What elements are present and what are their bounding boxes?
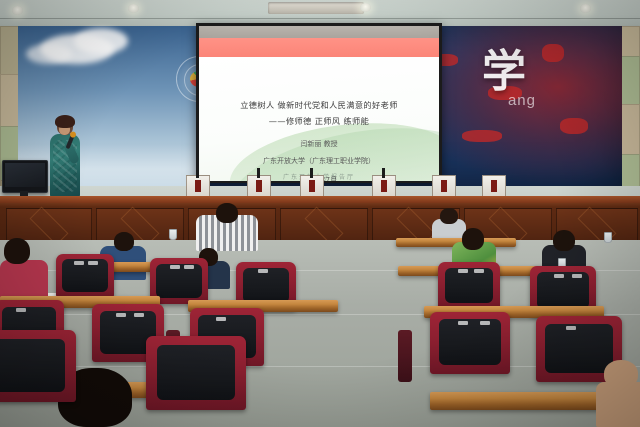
attendee-head [553, 230, 575, 251]
seat-cushion [243, 268, 290, 304]
attendee-head [114, 232, 134, 251]
desk-nameplate [186, 175, 210, 198]
desk-microphone [196, 168, 199, 178]
attendee-foreground-right [596, 360, 640, 427]
attendee-head [604, 360, 638, 388]
desk-nameplate [372, 175, 396, 198]
seat-number-tag [458, 321, 468, 325]
seat-number-tag [554, 274, 564, 278]
auditorium-seat[interactable] [56, 254, 114, 298]
desk-microphone [257, 168, 260, 178]
projection-screen[interactable]: 立德树人 做新时代党和人民满意的好老师 ——修师德 正师风 练师能 闫新丽 教授… [196, 23, 442, 183]
stage-monitor [2, 160, 48, 193]
desk-microphone [310, 168, 313, 178]
seat-number-tag [458, 269, 468, 273]
seat-number-tag [216, 317, 226, 321]
seat-cushion [62, 259, 107, 292]
seat-number-tag [116, 313, 126, 317]
downlight-2 [360, 3, 371, 12]
desk-nameplate [432, 175, 456, 198]
water-cup [604, 232, 612, 243]
slide-body: 立德树人 做新时代党和人民满意的好老师 ——修师德 正师风 练师能 闫新丽 教授… [199, 57, 439, 181]
desk-microphone [382, 168, 385, 178]
slide-title: 立德树人 做新时代党和人民满意的好老师 [199, 99, 439, 111]
attendee-torso [596, 382, 640, 427]
attendee-front-left [0, 238, 48, 300]
attendee-mid-center [196, 203, 258, 249]
attendee-head [440, 208, 458, 224]
auditorium-seat[interactable] [146, 336, 246, 410]
seat-cushion [439, 319, 501, 365]
seat-number-tag [88, 261, 98, 265]
slide-author: 闫新丽 教授 [199, 139, 439, 149]
seat-cushion [0, 339, 65, 392]
attendee-head [216, 203, 238, 223]
desk-nameplate [247, 175, 271, 198]
seat-number-tag [566, 326, 576, 330]
seat-number-tag [134, 313, 144, 317]
attendee-head [462, 228, 484, 250]
attendee-head [4, 238, 30, 264]
slide-header-grey-band [199, 26, 439, 38]
slide-header-coral-band [199, 38, 439, 57]
monitor-screen [5, 163, 45, 187]
cloud-shape [74, 28, 128, 54]
ink-speck [462, 130, 502, 142]
seat-number-tag [170, 265, 180, 269]
desk-nameplate [300, 175, 324, 198]
cloud-shape [26, 44, 72, 64]
seat-cushion [537, 272, 588, 309]
ink-speck [542, 44, 564, 62]
seat-number-tag [474, 269, 484, 273]
presentation-slide: 立德树人 做新时代党和人民满意的好老师 ——修师德 正师风 练师能 闫新丽 教授… [199, 26, 439, 181]
presenter [48, 118, 82, 198]
seat-number-tag [16, 308, 26, 312]
desk-nameplate [482, 175, 506, 198]
seat-cushion [445, 268, 493, 304]
downlight-1 [128, 4, 139, 13]
slide-organization: 广东开放大学（广东理工职业学院） [199, 156, 439, 166]
downlight-3 [580, 4, 591, 13]
backdrop-pinyin: ang [508, 92, 536, 109]
auditorium-seat[interactable] [0, 330, 76, 402]
stage-desk-panel [280, 208, 368, 243]
backdrop-character: 学 [482, 50, 526, 94]
lecture-hall-screenshot: 学 ang 立德树人 做新时代党和人民满意的好老师 ——修师德 正师风 练师能 … [0, 0, 640, 427]
ink-speck [560, 118, 588, 134]
seat-number-tag [74, 261, 84, 265]
downlight-4 [12, 6, 23, 15]
stage-desk-top [0, 196, 640, 203]
auditorium-seat[interactable] [438, 262, 500, 310]
seat-armrest [398, 330, 412, 382]
seat-number-tag [258, 269, 268, 273]
seat-number-tag [184, 265, 194, 269]
seat-number-tag [572, 274, 582, 278]
ceiling-seam [0, 18, 640, 19]
slide-subtitle: ——修师德 正师风 练师能 [199, 115, 439, 127]
ceiling-air-vent [268, 2, 364, 14]
presenter-hair [55, 115, 75, 128]
water-cup [169, 229, 177, 240]
auditorium-seat[interactable] [430, 312, 510, 374]
seat-cushion [157, 345, 235, 400]
seat-number-tag [480, 321, 490, 325]
